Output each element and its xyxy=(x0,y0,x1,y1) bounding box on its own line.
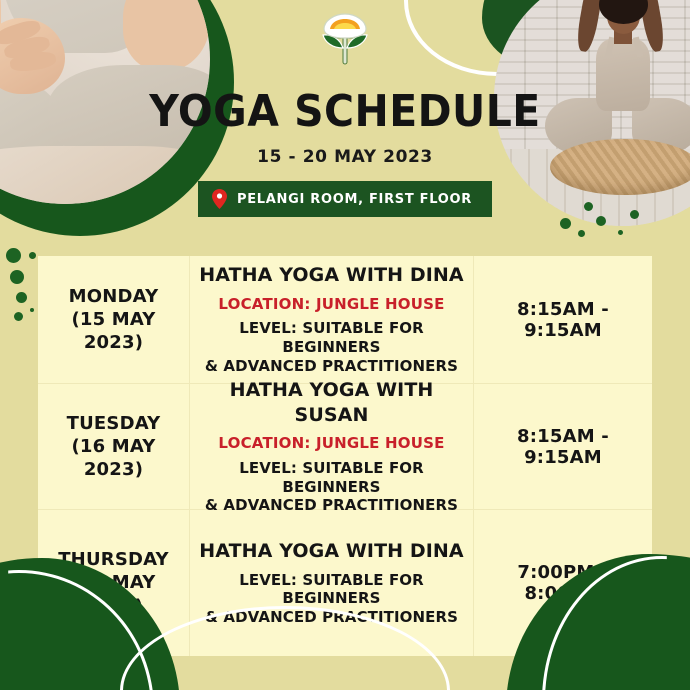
class-name: HATHA YOGA WITH DINA xyxy=(198,263,465,288)
page-title: YOGA SCHEDULE xyxy=(24,86,666,137)
class-level-line-1: LEVEL: SUITABLE FOR BEGINNERS xyxy=(198,571,465,609)
day-name: MONDAY xyxy=(44,285,183,308)
poster-header: YOGA SCHEDULE 15 - 20 MAY 2023 PELANGI R… xyxy=(0,0,690,217)
yoga-schedule-poster: YOGA SCHEDULE 15 - 20 MAY 2023 PELANGI R… xyxy=(0,0,690,690)
table-row: TUESDAY (16 MAY 2023) HATHA YOGA WITH SU… xyxy=(38,384,652,510)
class-time: 8:15AM - 9:15AM xyxy=(480,299,646,341)
day-date: (15 MAY 2023) xyxy=(44,308,183,354)
class-level-line-1: LEVEL: SUITABLE FOR BEGINNERS xyxy=(198,459,465,497)
time-cell: 8:15AM - 9:15AM xyxy=(474,384,652,509)
class-detail-cell: HATHA YOGA WITH DINA LOCATION: JUNGLE HO… xyxy=(190,256,474,383)
class-level-line-2: & ADVANCED PRACTITIONERS xyxy=(198,357,465,376)
class-name: HATHA YOGA WITH SUSAN xyxy=(198,378,465,427)
date-range: 15 - 20 MAY 2023 xyxy=(0,147,690,167)
time-cell: 8:15AM - 9:15AM xyxy=(474,256,652,383)
day-date: (16 MAY 2023) xyxy=(44,435,183,481)
day-cell: TUESDAY (16 MAY 2023) xyxy=(38,384,190,509)
class-detail-cell: HATHA YOGA WITH SUSAN LOCATION: JUNGLE H… xyxy=(190,384,474,509)
venue-badge-label: PELANGI ROOM, FIRST FLOOR xyxy=(237,192,472,207)
class-location: LOCATION: JUNGLE HOUSE xyxy=(198,434,465,454)
table-row: MONDAY (15 MAY 2023) HATHA YOGA WITH DIN… xyxy=(38,256,652,384)
class-time: 8:15AM - 9:15AM xyxy=(480,426,646,468)
map-pin-icon xyxy=(212,189,227,209)
flower-logo-icon xyxy=(314,8,376,70)
venue-badge: PELANGI ROOM, FIRST FLOOR xyxy=(198,181,492,217)
day-cell: MONDAY (15 MAY 2023) xyxy=(38,256,190,383)
class-location: LOCATION: JUNGLE HOUSE xyxy=(198,295,465,315)
class-name: HATHA YOGA WITH DINA xyxy=(198,539,465,564)
class-level-line-1: LEVEL: SUITABLE FOR BEGINNERS xyxy=(198,319,465,357)
day-name: TUESDAY xyxy=(44,412,183,435)
